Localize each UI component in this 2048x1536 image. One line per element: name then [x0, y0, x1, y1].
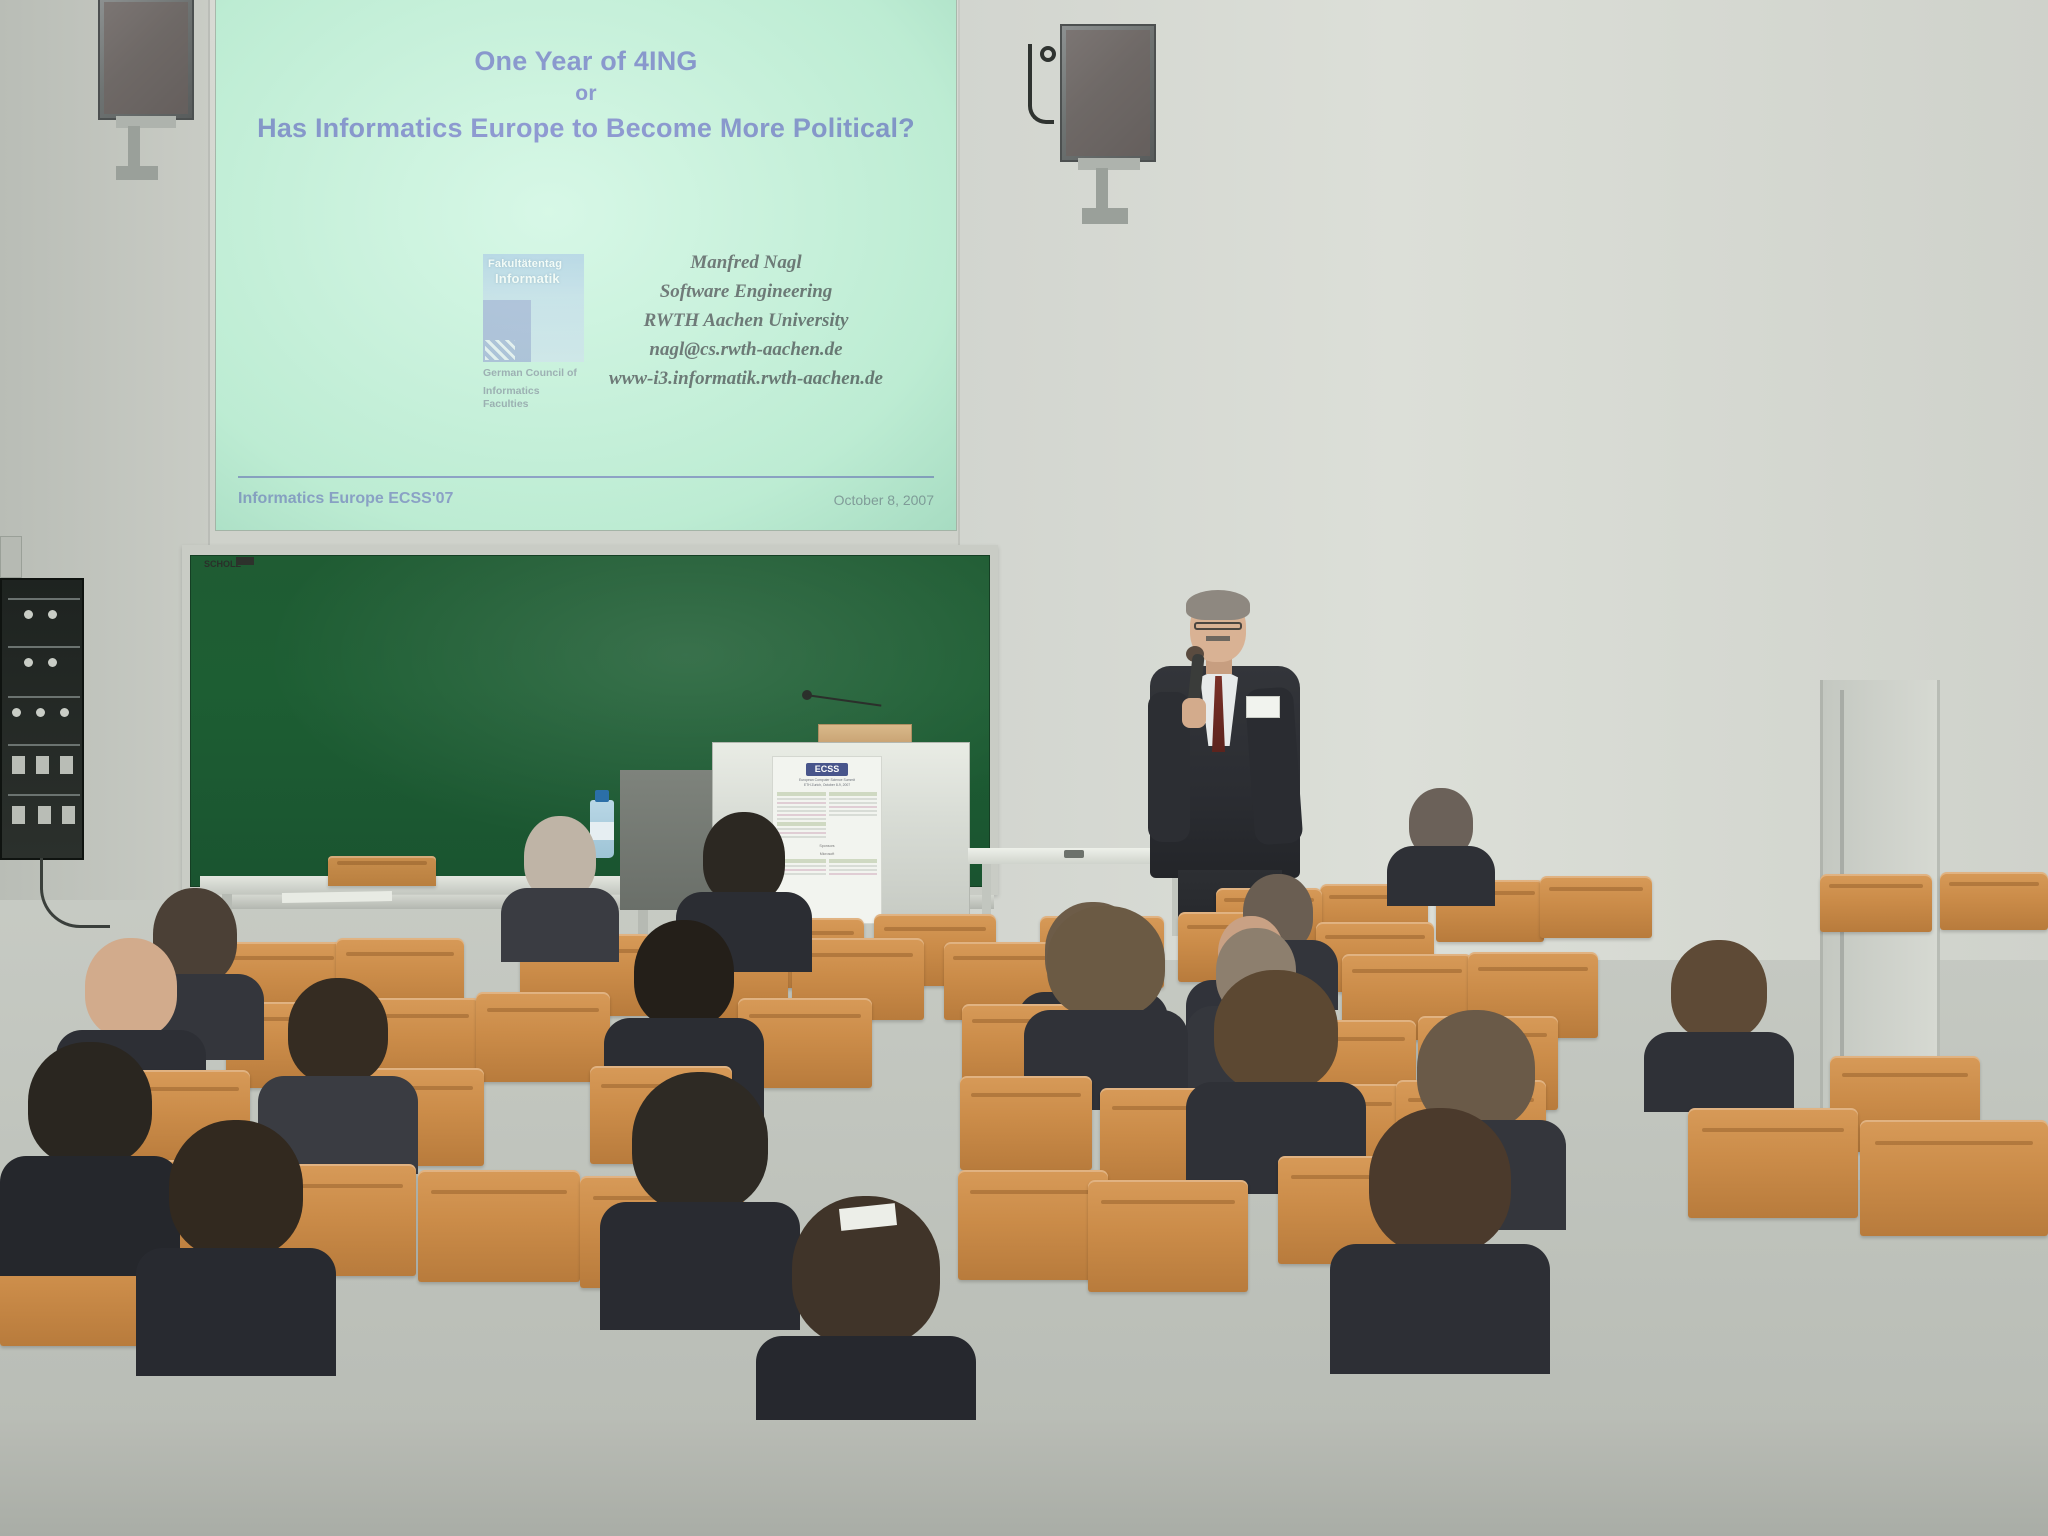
- control-switch[interactable]: [12, 806, 25, 824]
- author-department: Software Engineering: [566, 277, 926, 306]
- slide-footer-date: October 8, 2007: [834, 492, 934, 508]
- poster-entry: [829, 806, 878, 808]
- control-knob[interactable]: [48, 658, 57, 667]
- person-head: [1214, 970, 1338, 1092]
- projected-slide: One Year of 4ING or Has Informatics Euro…: [216, 0, 956, 530]
- speaker-grille: [1066, 30, 1150, 156]
- person-torso: [1644, 1032, 1794, 1112]
- person-head: [288, 978, 388, 1084]
- speaker-bracket-top: [116, 116, 176, 128]
- control-knob[interactable]: [24, 658, 33, 667]
- person-head: [1047, 906, 1165, 1018]
- audience-member: [1644, 940, 1794, 1090]
- control-knob[interactable]: [24, 610, 33, 619]
- presenter-hand: [1182, 698, 1206, 728]
- person-head: [28, 1042, 152, 1166]
- poster-entry: [829, 865, 878, 867]
- person-head: [703, 812, 785, 904]
- ecss-logo: ECSS: [806, 763, 848, 776]
- author-website: www-i3.informatik.rwth-aachen.de: [566, 364, 926, 393]
- person-torso: [501, 888, 619, 962]
- poster-entry: [829, 802, 878, 804]
- audience-member: [756, 1196, 976, 1456]
- poster-entry: [829, 869, 878, 871]
- control-switch[interactable]: [36, 756, 49, 774]
- poster-entry: [829, 873, 878, 875]
- poster-entry: [829, 798, 878, 800]
- audience-member: [1330, 1108, 1550, 1368]
- glasses-icon: [1194, 622, 1242, 630]
- poster-col-header: [829, 792, 878, 796]
- presenter-hair: [1186, 590, 1250, 620]
- control-knob[interactable]: [36, 708, 45, 717]
- person-head: [1671, 940, 1767, 1040]
- slide-title-line-1: One Year of 4ING: [216, 44, 956, 78]
- chair[interactable]: [1940, 872, 2048, 930]
- audience-member: [1386, 788, 1496, 898]
- poster-entry: [777, 798, 826, 800]
- slide-footer-rule: [238, 476, 934, 478]
- chair[interactable]: [1820, 874, 1932, 932]
- logo-dot-pattern: [485, 340, 515, 360]
- person-head: [85, 938, 177, 1038]
- slide-title-conjunction: or: [216, 78, 956, 110]
- right-wall-loudspeaker: [1060, 24, 1156, 162]
- slide-author-block: Manfred Nagl Software Engineering RWTH A…: [566, 248, 926, 393]
- person-torso: [136, 1248, 336, 1376]
- speaker-grille: [104, 2, 188, 114]
- person-torso: [1387, 846, 1495, 906]
- poster-entry: [777, 802, 826, 804]
- chair[interactable]: [418, 1170, 580, 1282]
- speaker-cabinet: [1060, 24, 1156, 162]
- poster-entry: [829, 814, 878, 816]
- object-on-side-table: [1064, 850, 1084, 858]
- slide-title-block: One Year of 4ING or Has Informatics Euro…: [216, 44, 956, 146]
- floor: [0, 1420, 2048, 1536]
- poster-schedule-column: [829, 792, 878, 840]
- control-switch[interactable]: [60, 756, 73, 774]
- poster-col-header: [829, 859, 878, 863]
- control-knob[interactable]: [12, 708, 21, 717]
- control-switch[interactable]: [12, 756, 25, 774]
- poster-schedule-column: [829, 859, 878, 877]
- logo-mark-line-1: Fakultätentag: [488, 258, 562, 270]
- person-head: [1369, 1108, 1511, 1254]
- slide-title-line-2: Has Informatics Europe to Become More Po…: [216, 110, 956, 146]
- wall-socket-plate[interactable]: [0, 536, 22, 578]
- speaker-cable-loop: [1040, 46, 1056, 62]
- chair[interactable]: [1860, 1120, 2048, 1236]
- audience-member: [500, 816, 620, 946]
- control-row: [8, 598, 80, 600]
- chair[interactable]: [1540, 876, 1652, 938]
- av-control-panel[interactable]: [0, 578, 84, 860]
- control-knob[interactable]: [60, 708, 69, 717]
- name-badge: [1246, 696, 1280, 718]
- chair[interactable]: [1088, 1180, 1248, 1292]
- person-torso: [1330, 1244, 1550, 1374]
- author-institution: RWTH Aachen University: [566, 306, 926, 335]
- slide-footer-left: Informatics Europe ECSS'07: [238, 490, 453, 508]
- poster-entry: [777, 806, 826, 808]
- chair[interactable]: [476, 992, 610, 1082]
- person-head: [632, 1072, 768, 1212]
- left-wall-loudspeaker: [98, 0, 194, 120]
- audience-member: [1024, 906, 1188, 1086]
- chair[interactable]: [1688, 1108, 1858, 1218]
- chair[interactable]: [958, 1170, 1108, 1280]
- control-switch[interactable]: [38, 806, 51, 824]
- lecture-hall-scene: One Year of 4ING or Has Informatics Euro…: [0, 0, 2048, 1536]
- poster-entry: [829, 810, 878, 812]
- audience-member: [136, 1120, 336, 1366]
- control-row: [8, 794, 80, 796]
- author-name: Manfred Nagl: [566, 248, 926, 277]
- author-email: nagl@cs.rwth-aachen.de: [566, 335, 926, 364]
- person-head: [634, 920, 734, 1028]
- blackboard-clip: [236, 557, 254, 565]
- bottle-cap: [595, 790, 609, 802]
- control-switch[interactable]: [62, 806, 75, 824]
- speaker-cabinet: [98, 0, 194, 120]
- speaker-bracket-base: [1082, 208, 1128, 224]
- person-head: [169, 1120, 303, 1258]
- chair[interactable]: [960, 1076, 1092, 1170]
- control-row: [8, 696, 80, 698]
- speaker-bracket-base: [116, 166, 158, 180]
- logo-mark-line-2: Informatik: [495, 271, 560, 286]
- control-row: [8, 744, 80, 746]
- control-knob[interactable]: [48, 610, 57, 619]
- poster-col-header: [777, 792, 826, 796]
- speaker-bracket-top: [1078, 158, 1140, 170]
- control-row: [8, 646, 80, 648]
- presenter-moustache: [1206, 636, 1230, 641]
